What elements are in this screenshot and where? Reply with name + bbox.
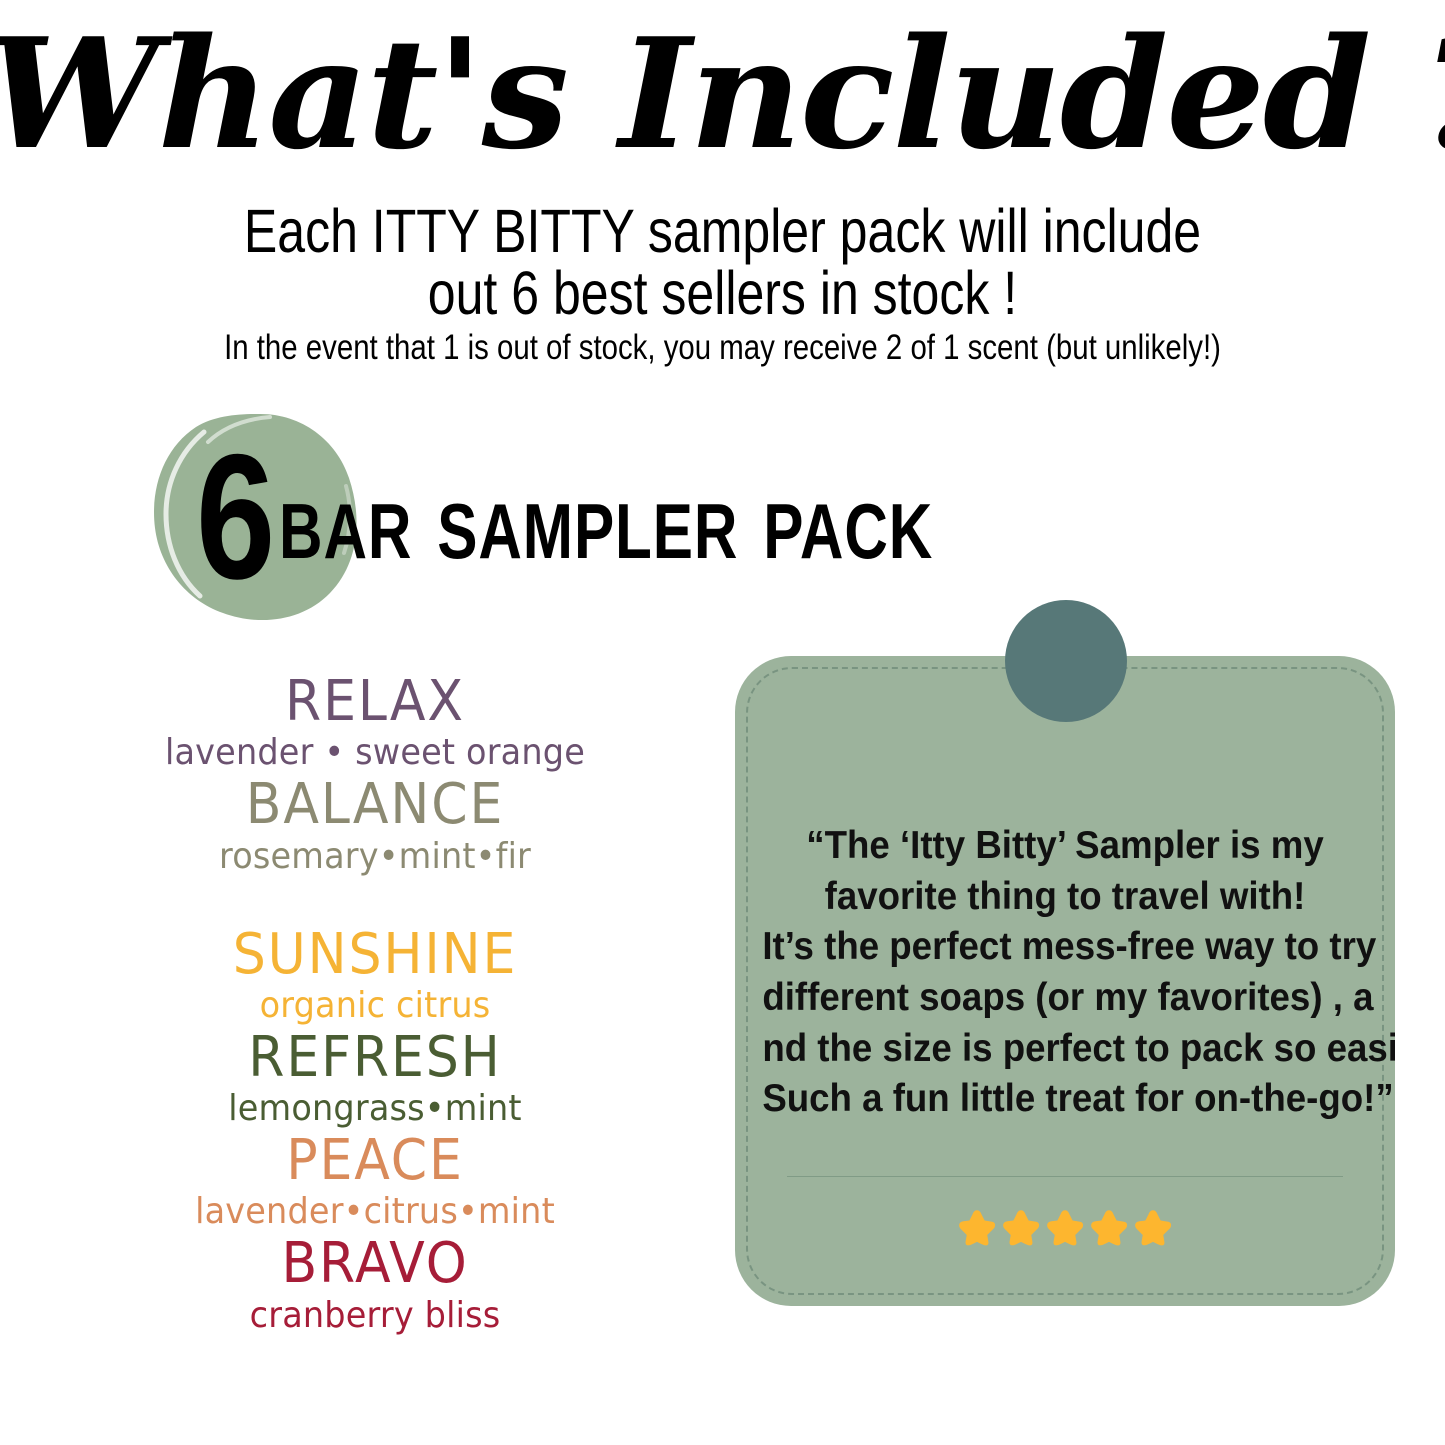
divider [787,1176,1343,1177]
list-item: RELAX lavender • sweet orange [145,672,605,775]
list-item: SUNSHINE organic citrus [145,925,605,1028]
testimonial-card: “The ‘Itty Bitty’ Sampler is my favorite… [735,600,1395,1306]
scent-notes: rosemary•mint•fir [161,835,589,879]
subheadline-line-1: Each ITTY BITTY sampler pack will includ… [130,200,1315,262]
subheadline: Each ITTY BITTY sampler pack will includ… [130,200,1315,324]
quote-line: different soaps (or my favorites) , a [762,973,1367,1024]
scent-notes: lavender•citrus•mint [161,1190,589,1234]
scent-notes: lavender • sweet orange [161,731,589,775]
scent-notes: lemongrass•mint [161,1087,589,1131]
quote-line: favorite thing to travel with! [762,872,1367,923]
fineprint-note: In the event that 1 is out of stock, you… [116,330,1330,365]
scent-name: BALANCE [161,775,589,834]
scent-list: RELAX lavender • sweet orange BALANCE ro… [145,672,605,1338]
pin-circle-icon [1005,600,1127,722]
scent-name: PEACE [161,1131,589,1190]
pack-title-text: Bar Sampler Pack [279,465,933,576]
list-item: REFRESH lemongrass•mint [145,1028,605,1131]
quote-line: nd the size is perfect to pack so easily… [762,1024,1367,1075]
star-icon [1134,1208,1172,1246]
quote-line: Such a fun little treat for on-the-go!” [762,1074,1367,1125]
star-rating [735,1208,1395,1246]
testimonial-card-body: “The ‘Itty Bitty’ Sampler is my favorite… [735,656,1395,1306]
scent-name: BRAVO [161,1234,589,1293]
star-icon [1090,1208,1128,1246]
subheadline-line-2: out 6 best sellers in stock ! [130,262,1315,324]
list-spacer [145,879,605,925]
list-item: BALANCE rosemary•mint•fir [145,775,605,878]
scent-name: RELAX [161,672,589,731]
scent-notes: cranberry bliss [161,1294,589,1338]
quote-line: It’s the perfect mess-free way to try [762,922,1367,973]
star-icon [1002,1208,1040,1246]
scent-name: SUNSHINE [161,925,589,984]
star-icon [958,1208,996,1246]
page-title: What's Included ? [0,18,1445,170]
scent-name: REFRESH [161,1028,589,1087]
pack-title: 6 Bar Sampler Pack [196,422,1006,612]
list-item: PEACE lavender•citrus•mint [145,1131,605,1234]
scent-notes: organic citrus [161,984,589,1028]
pack-title-row: 6 Bar Sampler Pack [0,404,1445,614]
quote-line: “The ‘Itty Bitty’ Sampler is my [762,821,1367,872]
list-item: BRAVO cranberry bliss [145,1234,605,1337]
testimonial-quote: “The ‘Itty Bitty’ Sampler is my favorite… [755,821,1375,1125]
pack-count: 6 [196,440,275,593]
star-icon [1046,1208,1084,1246]
